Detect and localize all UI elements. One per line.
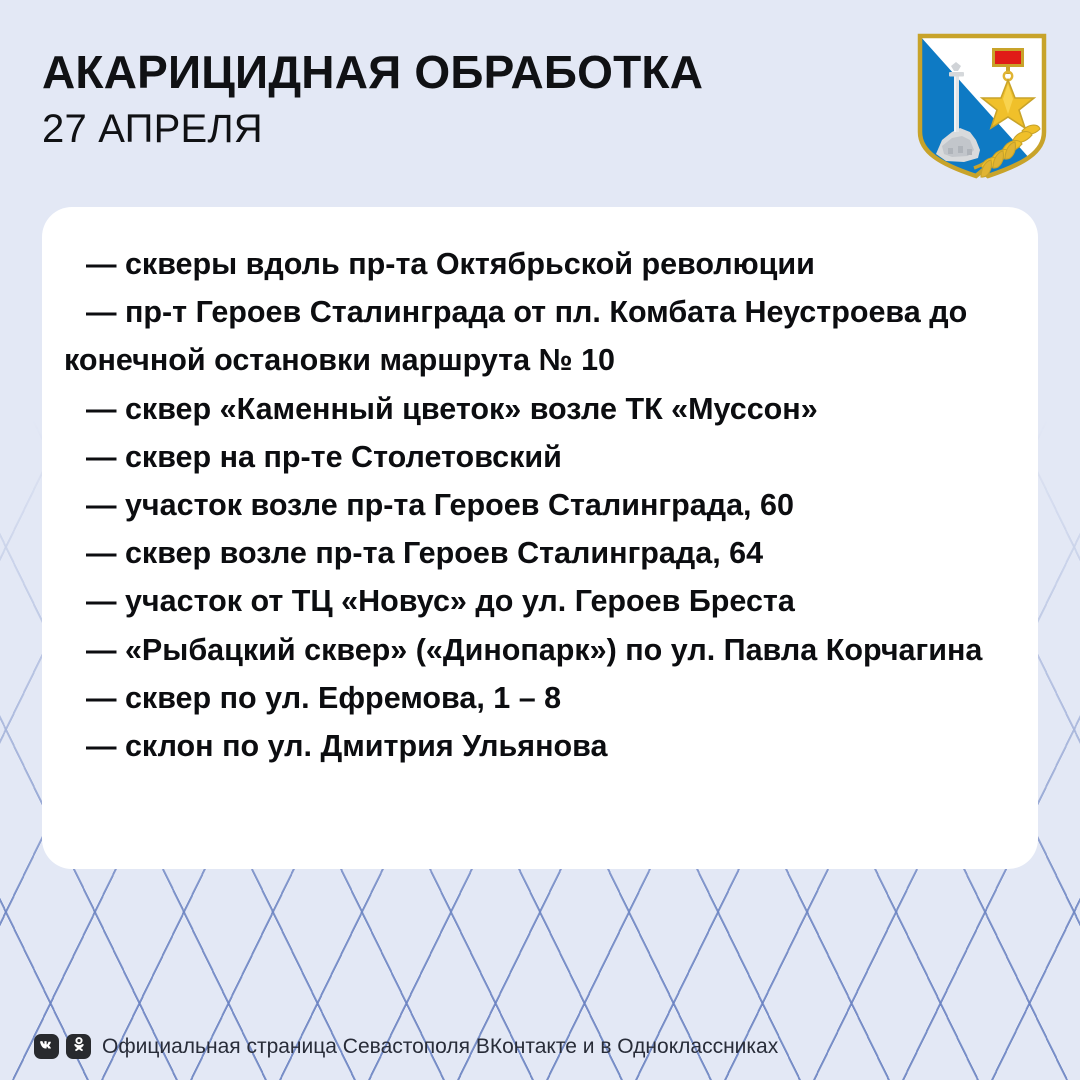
list-item: — участок от ТЦ «Новус» до ул. Героев Бр… bbox=[64, 577, 1016, 625]
page-subtitle-date: 27 АПРЕЛЯ bbox=[42, 108, 703, 150]
list-item: — сквер по ул. Ефремова, 1 – 8 bbox=[64, 674, 1016, 722]
sevastopol-coat-of-arms-icon bbox=[908, 28, 1056, 188]
list-item: — сквер «Каменный цветок» возле ТК «Мусс… bbox=[64, 385, 1016, 433]
title-block: АКАРИЦИДНАЯ ОБРАБОТКА 27 АПРЕЛЯ bbox=[42, 48, 703, 150]
list-item: — «Рыбацкий сквер» («Динопарк») по ул. П… bbox=[64, 626, 1016, 674]
list-item: — склон по ул. Дмитрия Ульянова bbox=[64, 722, 1016, 770]
vk-badge[interactable] bbox=[34, 1034, 59, 1059]
list-item: — сквер возле пр-та Героев Сталинграда, … bbox=[64, 529, 1016, 577]
footer: Официальная страница Севастополя ВКонтак… bbox=[34, 1034, 778, 1059]
vk-icon bbox=[38, 1036, 55, 1058]
list-item: — сквер на пр-те Столетовский bbox=[64, 433, 1016, 481]
list-item: — участок возле пр-та Героев Сталинграда… bbox=[64, 481, 1016, 529]
treatment-locations-list: — скверы вдоль пр-та Октябрьской революц… bbox=[64, 240, 1016, 770]
ok-badge[interactable] bbox=[66, 1034, 91, 1059]
list-item: — пр-т Героев Сталинграда от пл. Комбата… bbox=[64, 288, 1016, 384]
page-title: АКАРИЦИДНАЯ ОБРАБОТКА bbox=[42, 48, 703, 96]
list-item: — скверы вдоль пр-та Октябрьской революц… bbox=[64, 240, 1016, 288]
ok-icon bbox=[71, 1036, 87, 1058]
header: АКАРИЦИДНАЯ ОБРАБОТКА 27 АПРЕЛЯ bbox=[0, 0, 1080, 200]
content-card: — скверы вдоль пр-та Октябрьской революц… bbox=[42, 207, 1038, 869]
footer-text: Официальная страница Севастополя ВКонтак… bbox=[102, 1035, 778, 1059]
